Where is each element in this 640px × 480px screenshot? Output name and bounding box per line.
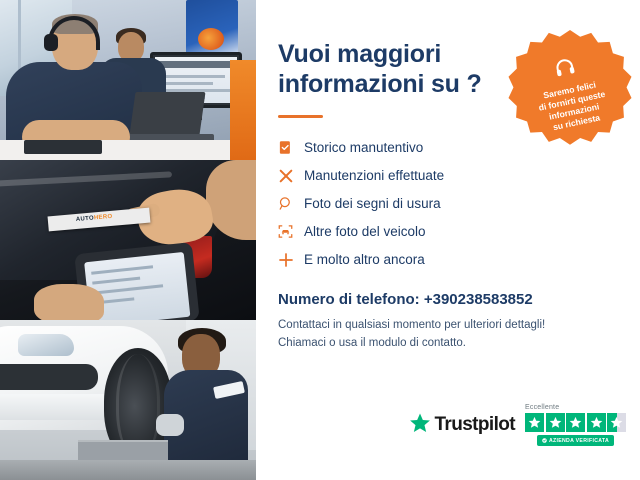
car-frame-icon (278, 224, 304, 239)
list-item: Foto dei segni di usura (278, 190, 618, 217)
status-badge: AZIENDA VERIFICATA (537, 435, 614, 446)
title-divider (278, 115, 323, 118)
star-filled-2 (546, 413, 565, 432)
content-panel: Vuoi maggiori informazioni su ? Storico … (256, 0, 640, 480)
phone-number-line: Numero di telefono: +390238583852 (278, 291, 618, 308)
feature-label: Storico manutentivo (304, 141, 423, 155)
trustpilot-logo: Trustpilot (409, 412, 515, 439)
vehicle-inspection-photo: AUTOHERO (0, 160, 256, 320)
checklist-icon (278, 140, 304, 155)
callout-badge: Saremo felici di fornirti queste informa… (508, 30, 632, 154)
trustpilot-badge[interactable]: Trustpilot Eccellente (409, 404, 626, 446)
headline-line-2: informazioni su ? (278, 70, 482, 98)
star-filled-1 (525, 413, 544, 432)
list-item: E molto altro ancora (278, 246, 618, 273)
list-item: Manutenzioni effettuate (278, 162, 618, 189)
feature-label: Manutenzioni effettuate (304, 169, 444, 183)
star-half-5 (607, 413, 626, 432)
phone-label: Numero di telefono: (278, 291, 424, 308)
promo-banner: AUTOHERO Vuoi mag (0, 0, 640, 480)
trustpilot-star-icon (409, 412, 431, 439)
magnifier-icon (278, 196, 304, 211)
autohero-ruler-label-a: AUTO (76, 215, 95, 223)
contact-subtext: Contattaci in qualsiasi momento per ulte… (278, 317, 618, 353)
feature-label: Altre foto del veicolo (304, 225, 426, 239)
plus-icon (278, 252, 304, 268)
star-filled-4 (587, 413, 606, 432)
verified-check-icon (542, 438, 547, 443)
trustpilot-stars (525, 413, 626, 432)
tools-icon (278, 168, 304, 184)
verified-label: AZIENDA VERIFICATA (549, 438, 609, 444)
page-title: Vuoi maggiori informazioni su ? (278, 40, 483, 99)
contact-subtext-line-2: Chiamaci o usa il modulo di contatto. (278, 337, 466, 349)
headline-line-1: Vuoi maggiori (278, 40, 441, 68)
contact-subtext-line-1: Contattaci in qualsiasi momento per ulte… (278, 319, 545, 331)
photo-column: AUTOHERO (0, 0, 256, 480)
feature-label: Foto dei segni di usura (304, 197, 441, 211)
trustpilot-wordmark: Trustpilot (434, 414, 515, 436)
star-filled-3 (566, 413, 585, 432)
list-item: Altre foto del veicolo (278, 218, 618, 245)
headset-icon (552, 54, 579, 85)
trustpilot-rating-label: Eccellente (525, 404, 559, 411)
call-center-photo (0, 0, 256, 160)
autohero-ruler-label-b: HERO (94, 214, 113, 222)
feature-label: E molto altro ancora (304, 253, 425, 267)
mechanic-workshop-photo (0, 320, 256, 480)
phone-number[interactable]: +390238583852 (424, 291, 533, 308)
